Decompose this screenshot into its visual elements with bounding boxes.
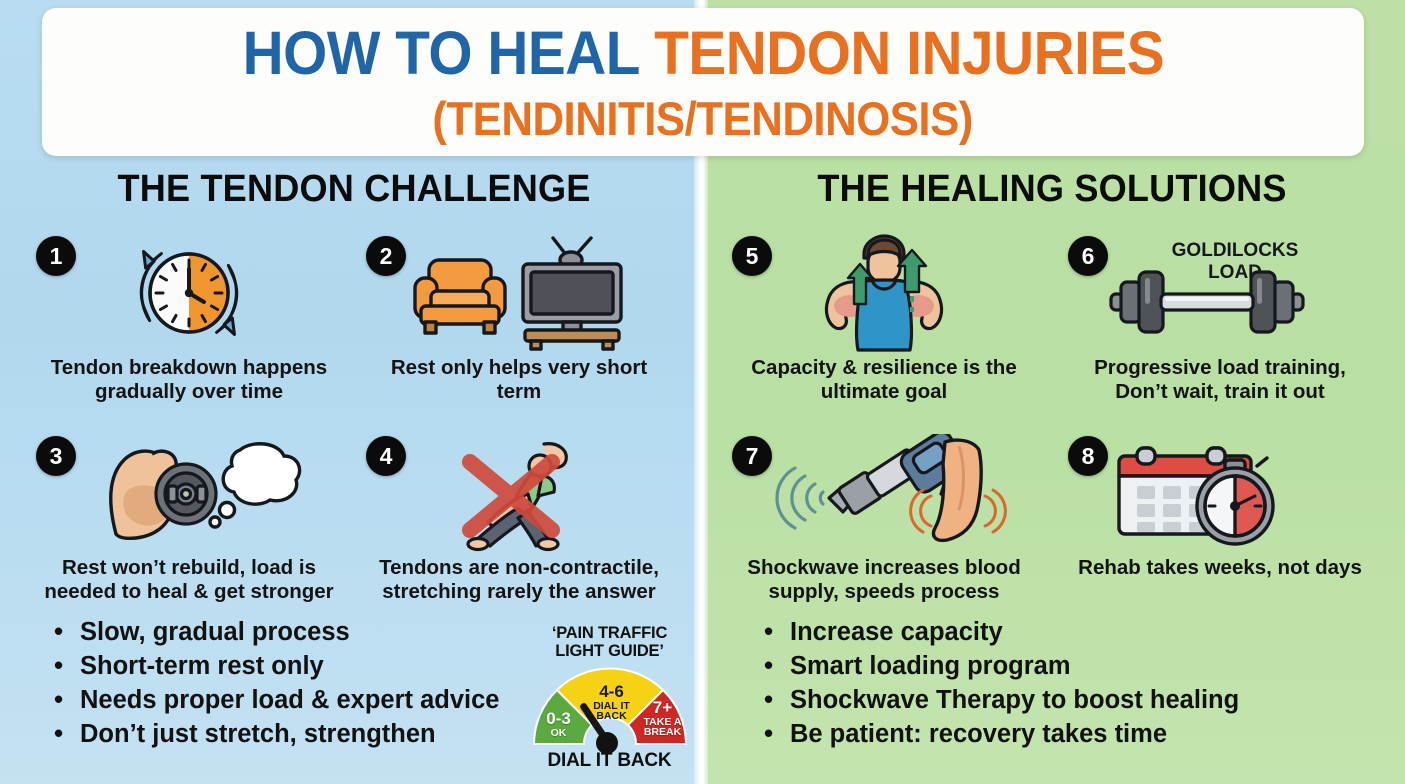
gauge-zone-green: 0-3 OK <box>536 710 582 738</box>
card-2-caption: Rest only helps very short term <box>354 356 684 404</box>
card-6-number: 6 <box>1068 236 1108 276</box>
list-item: Be patient: recovery takes time <box>760 717 1320 751</box>
card-3-number: 3 <box>36 436 76 476</box>
gauge-zone-red-range: 7+ <box>638 699 688 716</box>
card-5-number: 5 <box>732 236 772 276</box>
gauge-zone-red-action: TAKE A BREAK <box>638 717 688 738</box>
card-6: 6 GOLDILOCKS LOAD <box>1052 230 1388 430</box>
right-column: THE HEALING SOLUTIONS 5 <box>716 170 1388 630</box>
infographic-page: HOW TO HEAL TENDON INJURIES (TENDINITIS/… <box>0 0 1405 784</box>
card-3-caption: Rest won’t rebuild, load is needed to he… <box>24 556 354 604</box>
card-4-number: 4 <box>366 436 406 476</box>
card-3: 3 <box>24 430 354 630</box>
gauge-title-line2: LIGHT GUIDE’ <box>522 642 697 660</box>
gauge-dial: 0-3 OK 4-6 DIAL IT BACK 7+ TAKE A BREAK <box>530 666 690 746</box>
gauge-zone-red: 7+ TAKE A BREAK <box>638 699 688 738</box>
main-title: HOW TO HEAL TENDON INJURIES <box>242 23 1163 84</box>
card-6-caption: Progressive load training, Don’t wait, t… <box>1052 356 1388 404</box>
left-column-header: THE TENDON CHALLENGE <box>41 170 668 208</box>
card-8: 8 <box>1052 430 1388 630</box>
card-4-caption: Tendons are non-contractile, stretching … <box>354 556 684 604</box>
gauge-zone-green-range: 0-3 <box>536 710 582 727</box>
card-1-caption: Tendon breakdown happens gradually over … <box>24 356 354 404</box>
gauge-title-line1: ‘PAIN TRAFFIC <box>522 624 697 642</box>
card-4: 4 <box>354 430 684 630</box>
pain-traffic-light-guide: ‘PAIN TRAFFIC LIGHT GUIDE’ 0-3 OK 4-6 DI… <box>522 624 697 772</box>
card-8-number: 8 <box>1068 436 1108 476</box>
left-column: THE TENDON CHALLENGE 1 <box>24 170 684 630</box>
gauge-zone-yellow-range: 4-6 <box>584 683 640 700</box>
gauge-zone-green-action: OK <box>536 728 582 739</box>
title-panel: HOW TO HEAL TENDON INJURIES (TENDINITIS/… <box>42 8 1364 156</box>
left-bullet-list: Slow, gradual process Short-term rest on… <box>50 615 540 751</box>
list-item: Don’t just stretch, strengthen <box>50 717 540 751</box>
list-item: Increase capacity <box>760 615 1320 649</box>
card-1-number: 1 <box>36 236 76 276</box>
list-item: Short-term rest only <box>50 649 540 683</box>
right-bullet-list: Increase capacity Smart loading program … <box>760 615 1320 751</box>
list-item: Smart loading program <box>760 649 1320 683</box>
subtitle: (TENDINITIS/TENDINOSIS) <box>433 95 974 142</box>
right-card-grid: 5 <box>716 230 1388 630</box>
gauge-title: ‘PAIN TRAFFIC LIGHT GUIDE’ <box>522 624 697 660</box>
card-2: 2 <box>354 230 684 430</box>
card-7: 7 <box>716 430 1052 630</box>
list-item: Shockwave Therapy to boost healing <box>760 683 1320 717</box>
card-5-caption: Capacity & resilience is the ultimate go… <box>716 356 1052 404</box>
left-card-grid: 1 <box>24 230 684 630</box>
gauge-needle-hub <box>596 732 618 754</box>
card-2-number: 2 <box>366 236 406 276</box>
title-part-orange: TENDON INJURIES <box>654 19 1164 87</box>
goldilocks-load-label-line1: GOLDILOCKS <box>1172 240 1299 261</box>
title-part-blue: HOW TO HEAL <box>242 19 654 87</box>
card-7-number: 7 <box>732 436 772 476</box>
card-7-caption: Shockwave increases blood supply, speeds… <box>716 556 1052 604</box>
card-1: 1 <box>24 230 354 430</box>
list-item: Needs proper load & expert advice <box>50 683 540 717</box>
right-column-header: THE HEALING SOLUTIONS <box>733 170 1371 208</box>
list-item: Slow, gradual process <box>50 615 540 649</box>
card-8-caption: Rehab takes weeks, not days <box>1052 556 1388 580</box>
card-5: 5 <box>716 230 1052 430</box>
